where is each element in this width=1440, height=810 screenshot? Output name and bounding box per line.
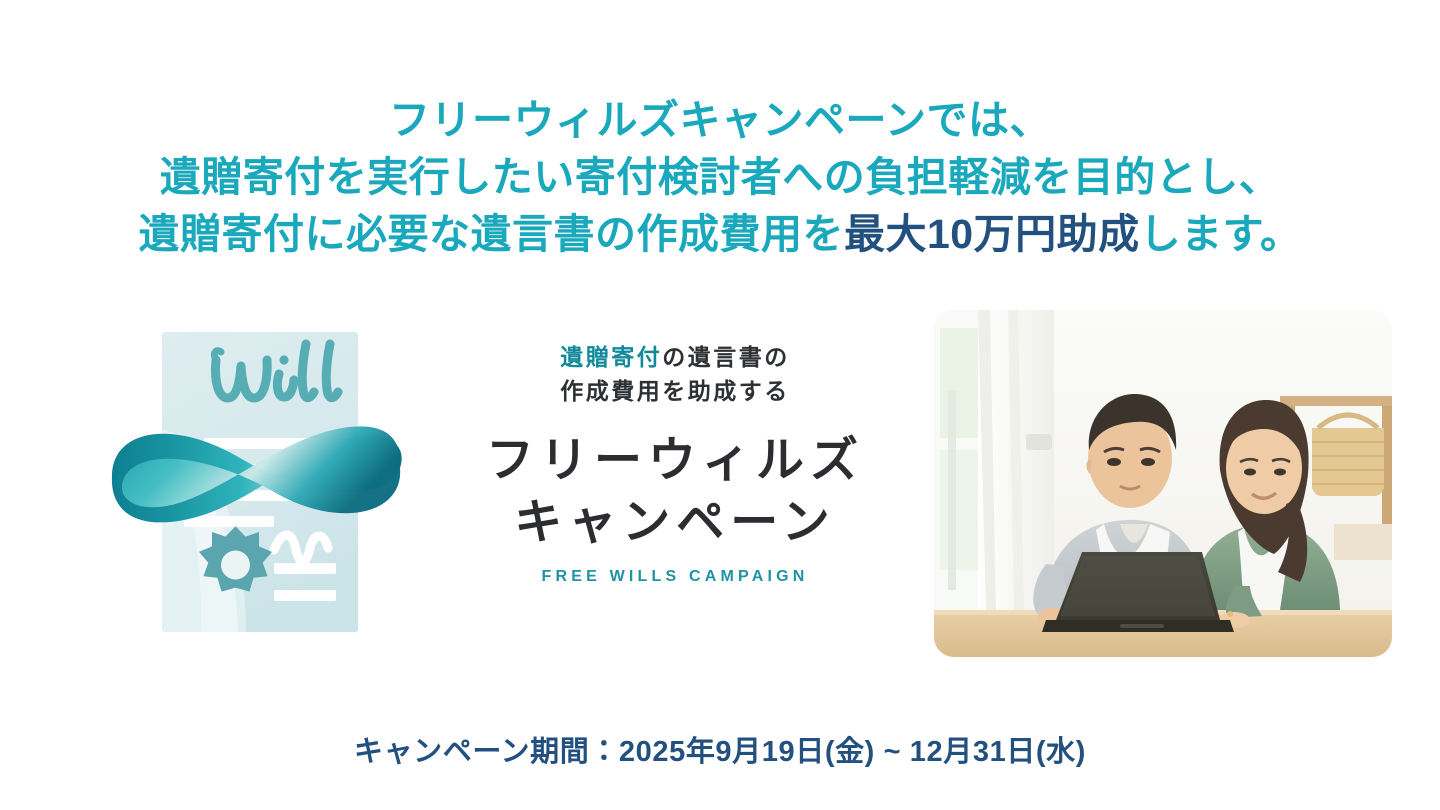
lockup-subtitle-emphasis: 遺贈寄付	[560, 344, 662, 370]
lockup-title: フリーウィルズ キャンペーン	[450, 430, 900, 554]
headline-highlight-amount: 最大10万円助成	[844, 211, 1140, 257]
headline-line-2: 遺贈寄付を実行したい寄付検討者への負担軽減を目的とし、	[0, 149, 1440, 206]
lockup-subtitle-line-1: 遺贈寄付の遺言書の	[450, 340, 900, 374]
free-wills-logo	[88, 318, 424, 648]
headline-line-3: 遺贈寄付に必要な遺言書の作成費用を最大10万円助成します。	[0, 206, 1440, 263]
lockup-title-line-2: キャンペーン	[450, 492, 900, 554]
lockup-title-line-1: フリーウィルズ	[450, 430, 900, 492]
lockup-subtitle-line-2: 作成費用を助成する	[450, 374, 900, 408]
headline-line-1: フリーウィルズキャンペーンでは、	[0, 92, 1440, 149]
headline-line-3-after: します。	[1140, 211, 1302, 257]
campaign-banner: フリーウィルズキャンペーンでは、 遺贈寄付を実行したい寄付検討者への負担軽減を目…	[0, 0, 1440, 810]
campaign-lockup: 遺贈寄付の遺言書の 作成費用を助成する フリーウィルズ キャンペーン FREE …	[450, 340, 900, 586]
couple-laptop-photo	[934, 310, 1392, 657]
campaign-period: キャンペーン期間：2025年9月19日(金) ~ 12月31日(水)	[0, 728, 1440, 770]
headline: フリーウィルズキャンペーンでは、 遺贈寄付を実行したい寄付検討者への負担軽減を目…	[0, 92, 1440, 263]
lockup-tagline: FREE WILLS CAMPAIGN	[450, 568, 900, 586]
headline-line-3-before: 遺贈寄付に必要な遺言書の作成費用を	[138, 211, 844, 257]
content-band: 遺贈寄付の遺言書の 作成費用を助成する フリーウィルズ キャンペーン FREE …	[0, 300, 1440, 670]
lockup-subtitle: 遺贈寄付の遺言書の 作成費用を助成する	[450, 340, 900, 408]
lockup-subtitle-rest: の遺言書の	[662, 344, 790, 370]
